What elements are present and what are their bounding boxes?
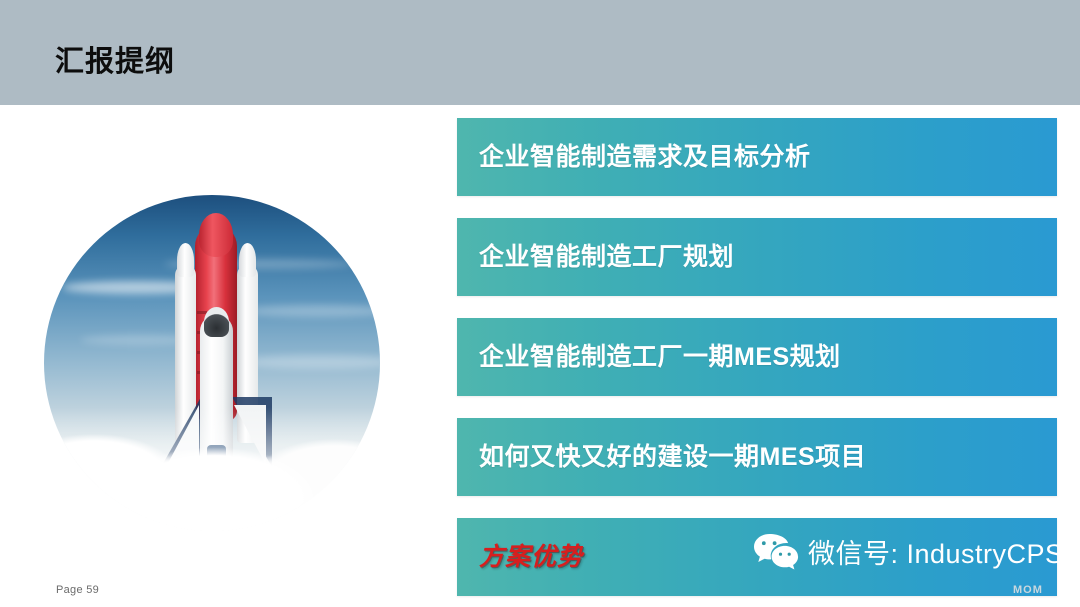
wechat-watermark: 微信号: IndustryCPS — [752, 527, 1064, 575]
external-tank-nose — [199, 213, 233, 257]
wechat-id-text: 微信号: IndustryCPS — [808, 532, 1064, 571]
agenda-item-2[interactable]: 企业智能制造工厂规划 — [457, 218, 1057, 296]
booster-nose-left — [177, 243, 194, 277]
agenda-item-5-label: 方案优势 — [457, 542, 583, 572]
agenda-item-2-label: 企业智能制造工厂规划 — [457, 242, 734, 272]
page-title: 汇报提纲 — [55, 43, 175, 81]
wechat-icon — [752, 531, 800, 571]
page-number: Page 59 — [56, 584, 99, 596]
mom-watermark: MOM — [1013, 584, 1043, 596]
agenda-item-4[interactable]: 如何又快又好的建设一期MES项目 — [457, 418, 1057, 496]
agenda-item-3[interactable]: 企业智能制造工厂一期MES规划 — [457, 318, 1057, 396]
booster-nose-right — [239, 243, 256, 277]
orbiter-nose — [204, 307, 229, 337]
agenda-item-4-label: 如何又快又好的建设一期MES项目 — [457, 442, 866, 472]
agenda-list: 企业智能制造需求及目标分析 企业智能制造工厂规划 企业智能制造工厂一期MES规划… — [457, 118, 1057, 596]
space-shuttle-launch-photo — [44, 195, 380, 531]
slide-canvas: 汇报提纲 — [0, 0, 1080, 607]
agenda-item-1-label: 企业智能制造需求及目标分析 — [457, 142, 811, 172]
agenda-item-3-label: 企业智能制造工厂一期MES规划 — [457, 342, 841, 372]
agenda-item-1[interactable]: 企业智能制造需求及目标分析 — [457, 118, 1057, 196]
cloud-bank — [44, 407, 380, 531]
